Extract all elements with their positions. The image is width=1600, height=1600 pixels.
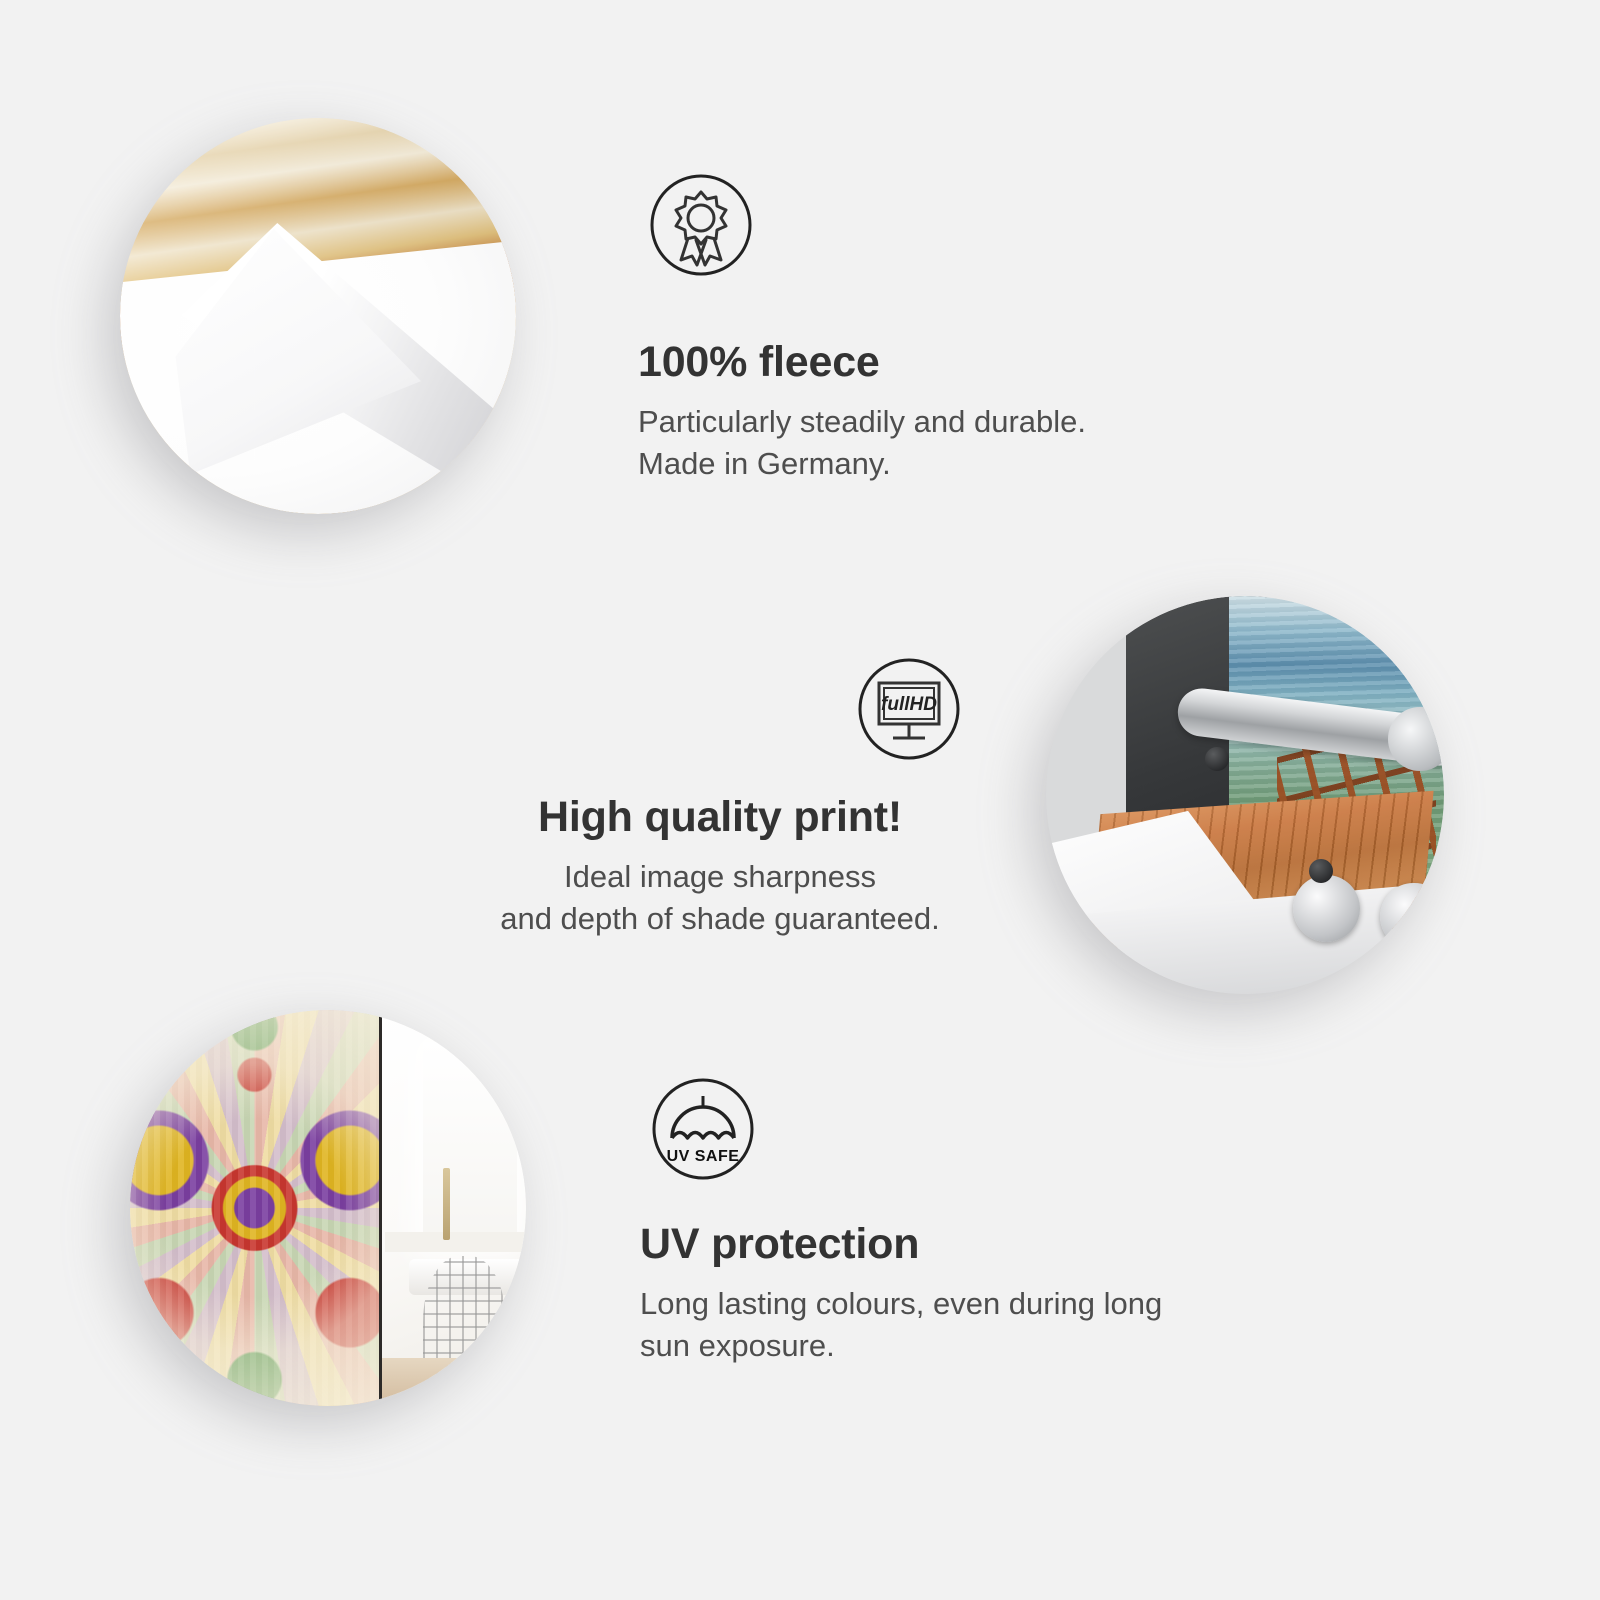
fullhd-monitor-icon: fullHD bbox=[856, 656, 962, 762]
photo-mandala-inner bbox=[130, 1010, 526, 1406]
feature-block-print: High quality print! Ideal image sharpnes… bbox=[430, 795, 1010, 939]
feature-description-print-line-2: and depth of shade guaranteed. bbox=[430, 898, 1010, 940]
printer-knob-upper bbox=[1205, 747, 1229, 771]
feature-title-print: High quality print! bbox=[430, 795, 1010, 840]
photo-wide-format-printer bbox=[1046, 596, 1444, 994]
candlestick bbox=[443, 1168, 450, 1239]
window-sill bbox=[385, 1232, 526, 1252]
printer-wheel-left bbox=[1293, 875, 1361, 943]
uv-safe-icon-label: UV SAFE bbox=[667, 1148, 740, 1165]
room-interior bbox=[379, 1010, 526, 1406]
feature-description-print-line-1: Ideal image sharpness bbox=[430, 856, 1010, 898]
fullhd-icon-label: fullHD bbox=[881, 694, 937, 715]
feature-block-fleece: 100% fleece Particularly steadily and du… bbox=[638, 340, 1338, 484]
printer-knob-lower bbox=[1309, 859, 1333, 883]
feature-description-print: Ideal image sharpness and depth of shade… bbox=[430, 856, 1010, 939]
photo-fleece-wallpaper bbox=[120, 118, 516, 514]
infographic-stage: 100% fleece Particularly steadily and du… bbox=[0, 0, 1600, 1600]
feature-title-fleece: 100% fleece bbox=[638, 340, 1338, 385]
feature-description-uv: Long lasting colours, even during long s… bbox=[640, 1283, 1340, 1366]
feature-description-fleece: Particularly steadily and durable. Made … bbox=[638, 401, 1338, 484]
feature-title-uv: UV protection bbox=[640, 1222, 1340, 1267]
photo-fleece-inner bbox=[120, 118, 516, 514]
feature-block-uv: UV protection Long lasting colours, even… bbox=[640, 1222, 1340, 1366]
feature-description-uv-line-1: Long lasting colours, even during long bbox=[640, 1283, 1340, 1325]
photo-printer-inner bbox=[1046, 596, 1444, 994]
feature-description-fleece-line-1: Particularly steadily and durable. bbox=[638, 401, 1338, 443]
printer-wheel-right bbox=[1380, 883, 1444, 951]
uv-safe-umbrella-icon: UV SAFE bbox=[650, 1076, 756, 1182]
room-window bbox=[423, 1042, 517, 1248]
mandala-wallpaper-wall bbox=[130, 1010, 382, 1406]
award-ribbon-icon bbox=[648, 172, 754, 278]
feature-description-fleece-line-2: Made in Germany. bbox=[638, 443, 1338, 485]
feature-description-uv-line-2: sun exposure. bbox=[640, 1325, 1340, 1367]
printer-roller-cap bbox=[1388, 707, 1444, 771]
photo-mandala-wallpaper-room bbox=[130, 1010, 526, 1406]
